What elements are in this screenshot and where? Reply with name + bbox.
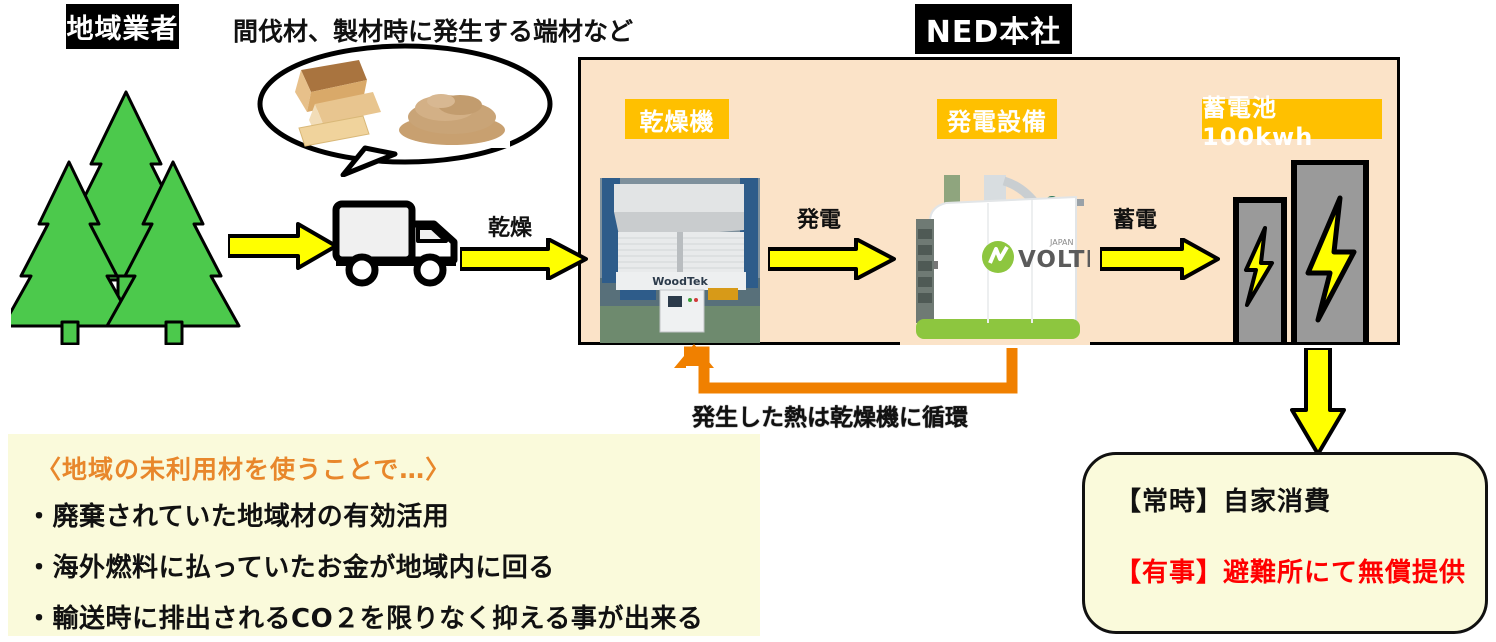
badge-generator: 発電設備 xyxy=(937,99,1057,139)
generator-unit-photo: VOLTER JAPAN xyxy=(900,175,1090,345)
svg-text:WoodTek: WoodTek xyxy=(652,275,708,288)
outcome-panel: 【常時】自家消費 【有事】避難所にて無償提供 xyxy=(1082,452,1488,634)
benefits-panel: 〈地域の未利用材を使うことで…〉 ・廃棄されていた地域材の有効活用 ・海外燃料に… xyxy=(8,434,760,636)
heat-loop-note-text: 発生した熱は乾燥機に循環 xyxy=(692,405,968,431)
evergreen-trees-icon xyxy=(11,84,244,345)
benefits-item: ・廃棄されていた地域材の有効活用 xyxy=(26,496,742,533)
badge-dryer-text: 乾燥機 xyxy=(640,102,715,137)
arrow-right-icon-to-battery xyxy=(1100,238,1220,280)
benefits-heading: 〈地域の未利用材を使うことで…〉 xyxy=(36,450,742,486)
label-local-supplier-text: 地域業者 xyxy=(67,7,179,46)
flow-label-storage-text: 蓄電 xyxy=(1113,208,1157,233)
delivery-truck-icon xyxy=(330,190,470,290)
label-local-supplier: 地域業者 xyxy=(66,4,179,49)
arrow-right-icon-to-dryer xyxy=(460,238,588,280)
material-callout-bubble xyxy=(255,42,555,177)
flow-label-generation: 発電 xyxy=(797,202,841,234)
flow-label-storage: 蓄電 xyxy=(1113,202,1157,234)
heat-loop-note: 発生した熱は乾燥機に循環 xyxy=(692,398,968,432)
svg-text:JAPAN: JAPAN xyxy=(1049,238,1073,247)
outcome-normal-text: 【常時】自家消費 xyxy=(1115,481,1485,518)
benefits-item: ・輸送時に排出されるCO２を限りなく抑える事が出来る xyxy=(26,598,742,635)
arrow-down-icon-to-outcome xyxy=(1290,348,1346,458)
badge-battery: 蓄電池100kwh xyxy=(1202,99,1382,139)
arrow-right-icon-trees-to-truck xyxy=(228,222,338,270)
battery-storage-icon xyxy=(1232,160,1392,345)
badge-battery-text: 蓄電池100kwh xyxy=(1202,88,1382,151)
wood-chips-icon xyxy=(395,86,510,148)
badge-dryer: 乾燥機 xyxy=(625,99,729,139)
badge-generator-text: 発電設備 xyxy=(947,102,1047,137)
diagram-canvas: 地域業者 間伐材、製材時に発生する端材など NED本社 xyxy=(0,0,1496,642)
outcome-alert-text: 【有事】避難所にて無償提供 xyxy=(1115,552,1485,589)
benefits-item: ・海外燃料に払っていたお金が地域内に回る xyxy=(26,547,742,584)
flow-label-generation-text: 発電 xyxy=(797,208,841,233)
arrow-right-icon-to-generator xyxy=(768,238,896,280)
u-turn-arrow-icon-heat-loop xyxy=(660,344,1020,396)
label-ned-headquarters: NED本社 xyxy=(915,4,1072,54)
label-ned-headquarters-text: NED本社 xyxy=(926,7,1062,51)
svg-text:VOLTER: VOLTER xyxy=(1018,247,1090,273)
dryer-machine-photo: WoodTek xyxy=(600,178,760,343)
